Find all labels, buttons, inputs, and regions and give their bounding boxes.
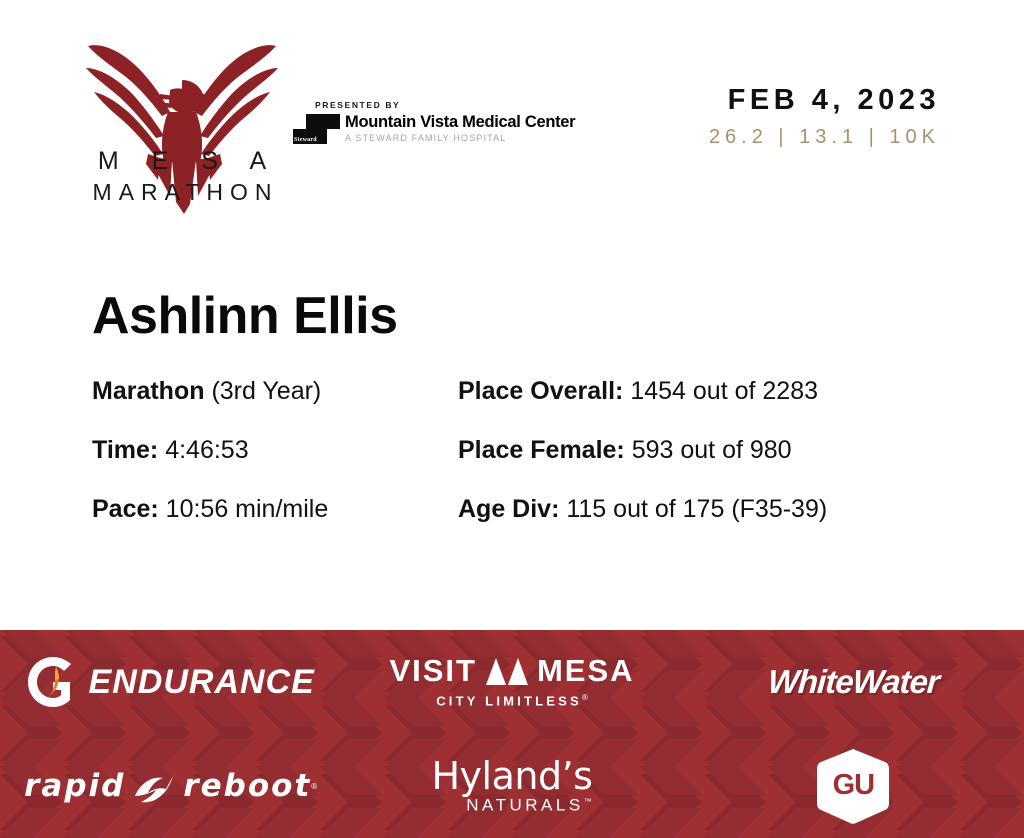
stat-row: Time: 4:46:53 Place Female: 593 out of 9… (92, 432, 932, 468)
rapid-wordmark: rapid (24, 770, 125, 802)
presented-by-label: PRESENTED BY (315, 100, 563, 110)
stat-age-div-value: 115 out of 175 (F35-39) (566, 495, 827, 523)
visit-mesa-tagline-text: CITY LIMITLESS (436, 693, 582, 708)
steward-wordmark: Steward (294, 137, 317, 143)
stat-event-value: (3rd Year) (211, 377, 321, 405)
mesa-peaks-icon (484, 656, 530, 686)
stat-place-overall-label: Place Overall: (458, 377, 623, 405)
sponsor-column-3: WhiteWater GU (683, 630, 1024, 838)
stat-row: Pace: 10:56 min/mile Age Div: 115 out of… (92, 491, 932, 527)
stat-place-female-value: 593 out of 980 (632, 436, 792, 464)
sponsor-whitewater: WhiteWater (767, 664, 940, 700)
stat-age-div: Age Div: 115 out of 175 (F35-39) (458, 491, 932, 527)
hylands-trademark: ™ (584, 797, 592, 806)
stat-pace: Pace: 10:56 min/mile (92, 491, 458, 527)
sponsor-footer: ENDURANCE rapid reboot ® VISIT (0, 630, 1024, 838)
stat-time: Time: 4:46:53 (92, 432, 458, 468)
page-title: Ashlinn Ellis (92, 285, 398, 347)
sponsor-slot: ENDURANCE (0, 630, 341, 734)
hylands-naturals-text: NATURALS (466, 796, 583, 815)
rapid-reboot-trademark: ® (311, 782, 317, 791)
sponsor-slot: rapid reboot ® (0, 734, 341, 838)
visit-mesa-trademark: ® (582, 693, 588, 702)
visit-mesa-tagline: CITY LIMITLESS® (389, 689, 634, 710)
stat-col-right: Place Overall: 1454 out of 2283 (458, 373, 932, 409)
sponsor-subtitle: A STEWARD FAMILY HOSPITAL (345, 132, 575, 145)
gatorade-bolt-icon (27, 656, 79, 708)
sponsor-slot: Hyland’s NATURALS™ (341, 734, 682, 838)
event-distances: 26.2 | 13.1 | 10K (709, 122, 940, 152)
stat-age-div-label: Age Div: (458, 495, 559, 523)
sponsor-column-1: ENDURANCE rapid reboot ® (0, 630, 341, 838)
stat-place-overall-value: 1454 out of 2283 (630, 377, 818, 405)
stat-col-left: Pace: 10:56 min/mile (92, 491, 458, 527)
stat-pace-value: 10:56 min/mile (166, 495, 329, 523)
event-date: FEB 4, 2023 (709, 82, 940, 118)
sponsor-visit-mesa: VISIT MESA CITY LIMITLESS® (389, 654, 634, 710)
stat-place-female-label: Place Female: (458, 436, 625, 464)
sponsor-gatorade-endurance: ENDURANCE (27, 656, 315, 708)
hylands-naturals-label: NATURALS™ (465, 792, 592, 816)
sponsor-slot: GU (683, 734, 1024, 838)
sponsor-slot: VISIT MESA CITY LIMITLESS® (341, 630, 682, 734)
steward-logo-icon: Steward (293, 114, 340, 144)
stats-grid: Marathon (3rd Year) Place Overall: 1454 … (92, 373, 932, 550)
page-header: M E S A MARATHON PRESENTED BY Steward Mo… (0, 0, 1024, 250)
stat-event: Marathon (3rd Year) (92, 373, 458, 409)
hylands-wordmark: Hyland’s (431, 756, 592, 796)
stat-col-right: Age Div: 115 out of 175 (F35-39) (458, 491, 932, 527)
event-date-block: FEB 4, 2023 26.2 | 13.1 | 10K (709, 82, 940, 152)
rapid-reboot-swirl-icon (131, 766, 177, 806)
reboot-wordmark: reboot (183, 770, 311, 802)
stat-place-female: Place Female: 593 out of 980 (458, 432, 932, 468)
stat-pace-label: Pace: (92, 495, 159, 523)
sponsor-column-2: VISIT MESA CITY LIMITLESS® Hyland’s (341, 630, 682, 838)
eagle-phoenix-icon (84, 38, 280, 220)
sponsor-gu: GU (816, 747, 890, 825)
mesa-marathon-logo: M E S A MARATHON (84, 38, 280, 220)
sponsor-slot: WhiteWater (683, 630, 1024, 734)
sponsor-hylands: Hyland’s NATURALS™ (431, 756, 592, 816)
stat-time-value: 4:46:53 (165, 436, 248, 464)
stat-col-right: Place Female: 593 out of 980 (458, 432, 932, 468)
gu-wordmark: GU (816, 769, 890, 801)
stat-col-left: Time: 4:46:53 (92, 432, 458, 468)
sponsor-name: Mountain Vista Medical Center (345, 113, 575, 132)
presenting-sponsor: PRESENTED BY Steward Mountain Vista Medi… (293, 100, 563, 145)
stat-row: Marathon (3rd Year) Place Overall: 1454 … (92, 373, 932, 409)
stat-time-label: Time: (92, 436, 158, 464)
stat-event-label: Marathon (92, 377, 205, 405)
stat-col-left: Marathon (3rd Year) (92, 373, 458, 409)
sponsor-rapid-reboot: rapid reboot ® (24, 766, 317, 806)
stat-place-overall: Place Overall: 1454 out of 2283 (458, 373, 932, 409)
visit-wordmark: VISIT (389, 654, 477, 688)
mesa-wordmark: MESA (537, 654, 635, 688)
gatorade-endurance-wordmark: ENDURANCE (89, 665, 315, 699)
